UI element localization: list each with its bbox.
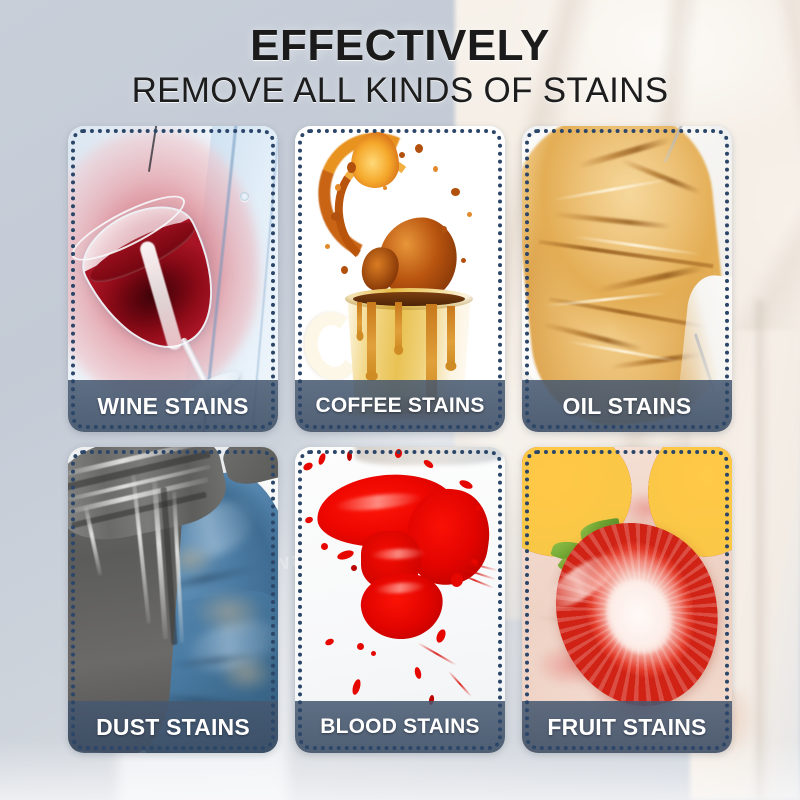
dust-card-label: DUST STAINS [96,714,250,741]
page-title: EFFECTIVELY [0,23,800,69]
dust-card-label-bar: DUST STAINS [68,701,278,753]
stain-card-coffee[interactable]: COFFEE STAINS [295,126,505,432]
wine-card-label-bar: WINE STAINS [68,380,278,432]
stain-card-blood[interactable]: BLOOD STAINS [295,447,505,753]
stain-card-wine[interactable]: WINE STAINS [68,126,278,432]
wine-card-label: WINE STAINS [97,393,248,420]
page-header: EFFECTIVELY REMOVE ALL KINDS OF STAINS [0,0,800,111]
stain-card-oil[interactable]: OIL STAINS [522,126,732,432]
fruit-card-label: FRUIT STAINS [547,714,706,741]
stain-card-fruit[interactable]: FRUIT STAINS [522,447,732,753]
stain-type-grid: WINE STAINS [68,126,732,753]
background-sleeve-edge [756,300,770,800]
page-subtitle: REMOVE ALL KINDS OF STAINS [0,71,800,111]
stain-card-dust[interactable]: DUST STAINS [68,447,278,753]
blood-card-label-bar: BLOOD STAINS [295,701,505,753]
fruit-card-label-bar: FRUIT STAINS [522,701,732,753]
blood-card-label: BLOOD STAINS [320,715,480,739]
oil-card-label: OIL STAINS [563,393,692,420]
coffee-card-label-bar: COFFEE STAINS [295,380,505,432]
oil-card-label-bar: OIL STAINS [522,380,732,432]
coffee-card-label: COFFEE STAINS [315,394,484,418]
